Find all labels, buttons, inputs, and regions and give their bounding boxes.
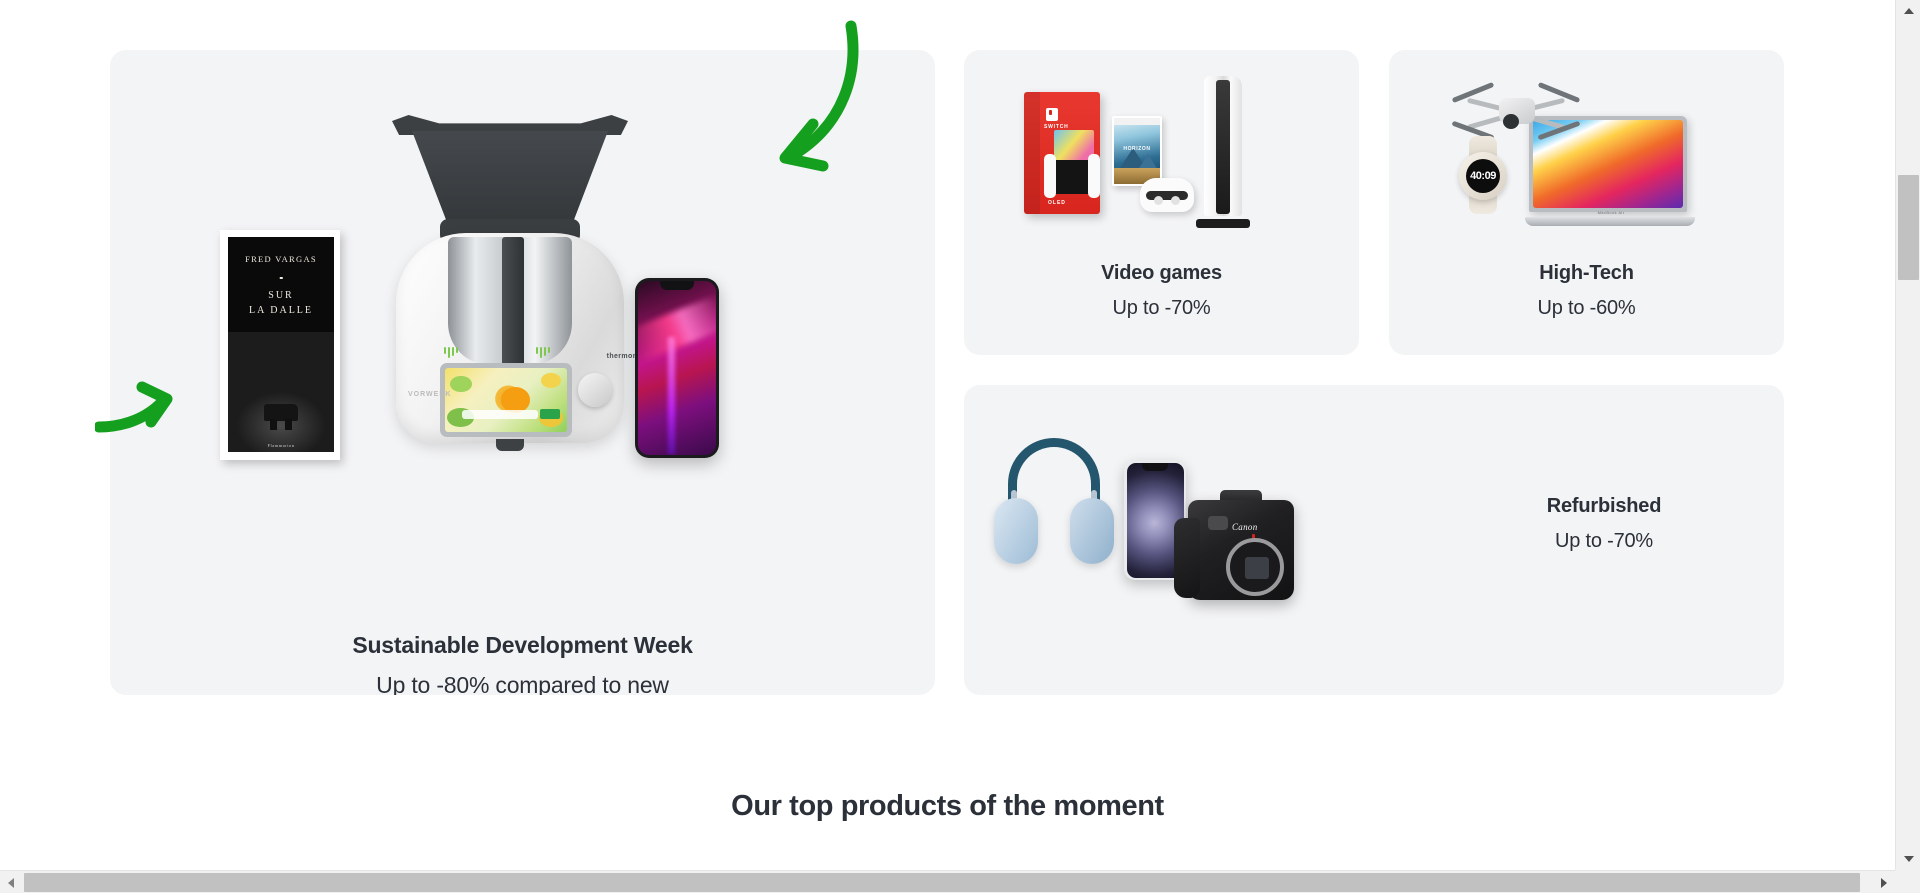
dslr-camera-product-image: Canon EOS 50D [1174, 490, 1298, 602]
main-card-title: Sustainable Development Week [110, 632, 935, 659]
camera-grip [1174, 518, 1200, 598]
promo-card-refurbished[interactable]: Canon EOS 50D Refurbished Up to -70% [964, 385, 1784, 695]
headphones-earcup-right [1070, 498, 1114, 564]
book-title-line2: LA DALLE [249, 305, 313, 316]
playstation-5-console-image [1196, 76, 1250, 228]
drone-camera-icon [1503, 114, 1519, 129]
refurbished-image: Canon EOS 50D [984, 420, 1404, 650]
triangle-up-icon [1904, 8, 1914, 14]
sustainable-development-week-image: FRED VARGAS SUR LA DALLE Flammarion [110, 50, 935, 610]
book-publisher-text: Flammarion [228, 443, 334, 448]
book-cover-dolmen [264, 404, 298, 421]
kitchen-robot-product-image: VORWERK thermomix [360, 115, 660, 465]
vertical-scrollbar-thumb[interactable] [1898, 175, 1919, 280]
robot-steam-left-icon [444, 347, 458, 359]
video-games-text-block: Video games Up to -70% [964, 262, 1359, 320]
main-card-subtitle: Up to -80% compared to new [110, 672, 935, 695]
switch-joycon-left [1044, 154, 1056, 198]
robot-foot [496, 439, 524, 451]
triangle-right-icon [1881, 878, 1887, 888]
book-author-text: FRED VARGAS [228, 254, 334, 264]
camera-body: Canon EOS 50D [1188, 500, 1294, 600]
ps5-game-case-image: HORIZON [1112, 116, 1162, 186]
promo-card-sustainable-development-week[interactable]: FRED VARGAS SUR LA DALLE Flammarion [110, 50, 935, 695]
phone-notch [660, 281, 694, 290]
laptop-model-label: MacBook Air [1598, 210, 1625, 215]
ps5-game-title-text: HORIZON [1114, 146, 1160, 152]
switch-joycon-right [1088, 154, 1100, 198]
vertical-scrollbar[interactable] [1895, 0, 1920, 870]
robot-control-knob [578, 373, 612, 407]
camera-lens-mount [1226, 538, 1284, 596]
book-cover-photo: Flammarion [228, 332, 334, 452]
book-decoration-dot [280, 277, 283, 280]
scrollbar-corner [1895, 870, 1920, 893]
triangle-left-icon [8, 878, 14, 888]
refurbished-subtitle: Up to -70% [1424, 530, 1784, 553]
smartphone-product-image [635, 278, 719, 458]
section-heading-top-products: Our top products of the moment [0, 790, 1895, 823]
camera-mode-dial [1208, 516, 1228, 530]
main-card-text-block: Sustainable Development Week Up to -80% … [110, 628, 935, 695]
refurbished-title: Refurbished [1424, 495, 1784, 518]
video-games-image: SWITCH OLED HORIZON [964, 70, 1359, 260]
scroll-right-button[interactable] [1873, 871, 1895, 893]
horizontal-scrollbar[interactable] [0, 870, 1920, 893]
phone-screen [638, 281, 716, 455]
high-tech-image: MacBook Air 40:09 [1389, 70, 1784, 260]
triangle-down-icon [1904, 856, 1914, 862]
smartwatch-product-image: 40:09 [1455, 136, 1513, 214]
book-title-text: SUR LA DALLE [228, 289, 334, 318]
nintendo-switch-box-image: SWITCH OLED [1024, 92, 1100, 214]
switch-box-spine [1024, 92, 1040, 214]
robot-steam-right-icon [536, 347, 550, 359]
robot-screen-search-bar [462, 410, 538, 419]
high-tech-subtitle: Up to -60% [1389, 297, 1784, 320]
watch-time-text: 40:09 [1470, 170, 1496, 182]
robot-steaming-bowl [412, 131, 608, 223]
book-title-line1: SUR [268, 290, 293, 301]
camera-brand-text: Canon [1232, 522, 1258, 532]
scroll-down-button[interactable] [1896, 848, 1920, 870]
high-tech-text-block: High-Tech Up to -60% [1389, 262, 1784, 320]
scroll-left-button[interactable] [0, 871, 22, 893]
robot-brand-vorwerk: VORWERK [408, 391, 451, 398]
switch-box-oled-label: OLED [1048, 200, 1066, 206]
robot-jug-handle [502, 237, 524, 377]
laptop-base [1525, 217, 1695, 226]
scroll-up-button[interactable] [1896, 0, 1920, 22]
refurbished-phone-notch [1142, 463, 1168, 471]
book-product-image: FRED VARGAS SUR LA DALLE Flammarion [220, 230, 340, 460]
watch-face: 40:09 [1466, 159, 1500, 193]
headphones-earcup-left [994, 498, 1038, 564]
robot-touchscreen [440, 363, 572, 437]
ps5-game-case-header [1114, 118, 1160, 125]
watch-case: 40:09 [1459, 152, 1507, 200]
robot-screen-green-button [540, 409, 560, 419]
high-tech-title: High-Tech [1389, 262, 1784, 285]
nintendo-switch-logo-icon [1046, 108, 1058, 121]
headphones-product-image [994, 438, 1114, 578]
video-games-title: Video games [964, 262, 1359, 285]
dualsense-controller-image [1140, 178, 1194, 212]
promo-card-high-tech[interactable]: MacBook Air 40:09 [1389, 50, 1784, 355]
refurbished-text-block: Refurbished Up to -70% [1424, 495, 1784, 553]
video-games-subtitle: Up to -70% [964, 297, 1359, 320]
promo-card-video-games[interactable]: SWITCH OLED HORIZON [964, 50, 1359, 355]
page-root: FRED VARGAS SUR LA DALLE Flammarion [0, 0, 1920, 893]
horizontal-scrollbar-thumb[interactable] [24, 873, 1860, 892]
